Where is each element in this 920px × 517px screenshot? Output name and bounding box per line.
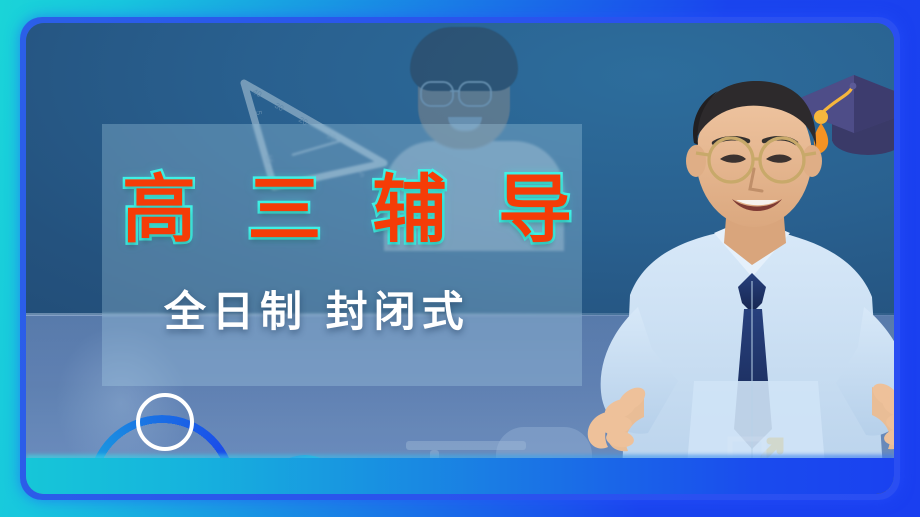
svg-text:5: 5 xyxy=(254,110,264,116)
bottom-accent-band xyxy=(26,458,894,494)
headline-char-2: 三 xyxy=(247,173,321,247)
poster-stage: 40 30 20 10 5 15 25 5 高 xyxy=(26,23,894,494)
white-ring-decoration xyxy=(136,393,194,451)
background-desk-top xyxy=(406,441,526,450)
page-subtitle: 全日制 封闭式 xyxy=(164,291,544,333)
headline-char-3: 辅 xyxy=(373,173,447,247)
headline-panel xyxy=(102,124,582,386)
headline-char-1: 高 xyxy=(122,173,196,247)
headline-char-4: 导 xyxy=(498,173,572,247)
promo-poster: 40 30 20 10 5 15 25 5 高 xyxy=(0,0,920,517)
page-title: 高 三 辅 导 xyxy=(122,173,572,247)
